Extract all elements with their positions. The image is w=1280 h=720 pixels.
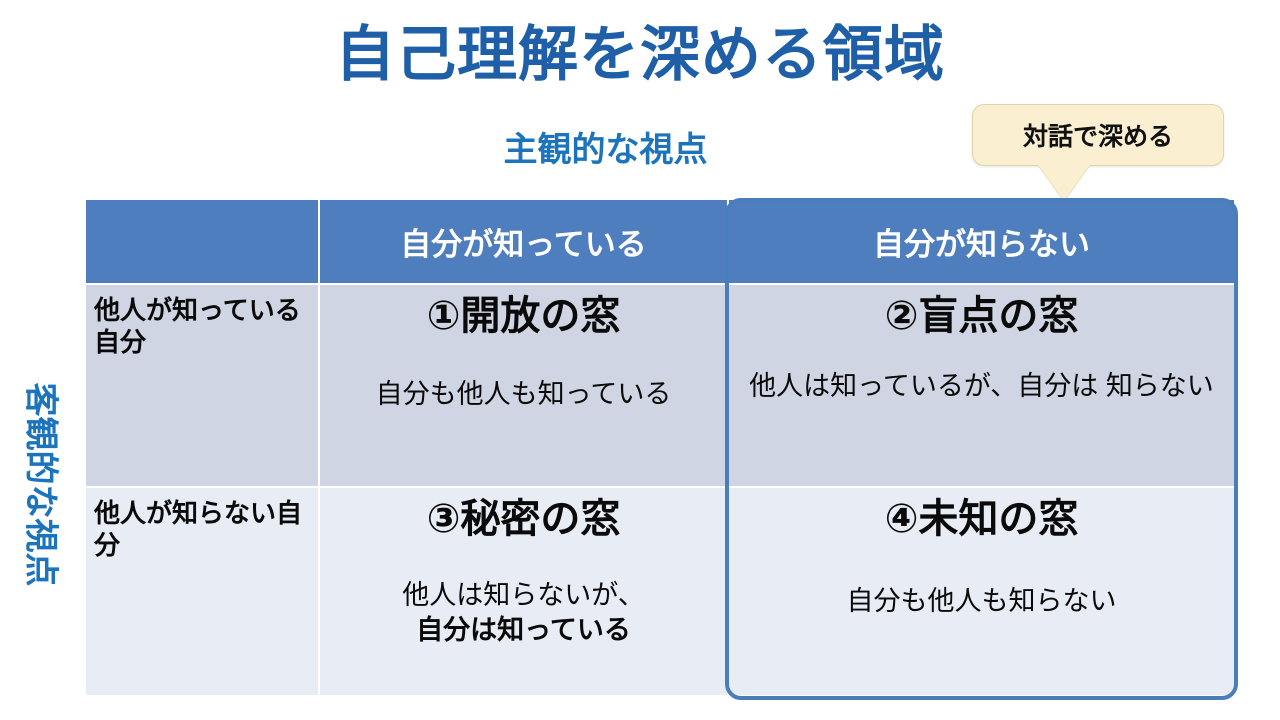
quadrant-description: 他人は知っているが、自分は 知らない bbox=[743, 369, 1220, 404]
quadrant-description-line1: 自分も他人も知っている bbox=[376, 379, 672, 409]
column-header-label: 自分が知らない bbox=[873, 219, 1090, 264]
grid-line-vertical bbox=[727, 200, 729, 695]
quadrant-blind-window: ②盲点の窓 他人は知っているが、自分は 知らない bbox=[729, 285, 1234, 486]
quadrant-description-line2: 自分は知っている bbox=[334, 613, 713, 648]
row-header-known-to-others: 他人が知っている自分 bbox=[86, 285, 318, 486]
quadrant-description-line1: 他人は知っているが、自分は bbox=[749, 371, 1098, 401]
quadrant-title: ④未知の窓 bbox=[743, 496, 1220, 542]
quadrant-hidden-window: ③秘密の窓 他人は知らないが、 自分は知っている bbox=[320, 488, 727, 695]
grid-line-horizontal bbox=[86, 486, 1234, 488]
quadrant-description-line1: 他人は知らないが、 bbox=[402, 580, 644, 610]
quadrant-description: 自分も他人も知っている bbox=[334, 377, 713, 412]
quadrant-title: ③秘密の窓 bbox=[334, 496, 713, 542]
quadrant-unknown-window: ④未知の窓 自分も他人も知らない bbox=[729, 488, 1234, 695]
grid-line-horizontal bbox=[86, 283, 1234, 285]
column-axis-label: 主観的な視点 bbox=[318, 132, 893, 169]
quadrant-open-window: ①開放の窓 自分も他人も知っている bbox=[320, 285, 727, 486]
table-header-corner bbox=[86, 200, 318, 283]
column-header-unknown-to-self: 自分が知らない bbox=[729, 200, 1234, 283]
callout-pointer-icon bbox=[1038, 165, 1090, 201]
johari-window-table: 自分が知っている 自分が知らない 他人が知っている自分 他人が知らない自分 ①開… bbox=[86, 200, 1234, 696]
row-header-unknown-to-others: 他人が知らない自分 bbox=[86, 488, 318, 695]
row-axis-label: 客観的な視点 bbox=[20, 365, 69, 605]
quadrant-description: 他人は知らないが、 自分は知っている bbox=[334, 578, 713, 648]
column-header-known-to-self: 自分が知っている bbox=[320, 200, 727, 283]
callout-label: 対話で深める bbox=[1023, 117, 1173, 153]
quadrant-title: ①開放の窓 bbox=[334, 293, 713, 339]
column-header-label: 自分が知っている bbox=[400, 219, 646, 264]
quadrant-description-line1: 自分も他人も知らない bbox=[847, 586, 1117, 616]
quadrant-description-line2: 知らない bbox=[1106, 371, 1214, 401]
grid-line-vertical bbox=[318, 200, 320, 695]
callout-bubble: 対話で深める bbox=[972, 104, 1224, 166]
quadrant-description: 自分も他人も知らない bbox=[743, 584, 1220, 619]
page-title: 自己理解を深める領域 bbox=[0, 22, 1280, 88]
quadrant-title: ②盲点の窓 bbox=[743, 293, 1220, 339]
